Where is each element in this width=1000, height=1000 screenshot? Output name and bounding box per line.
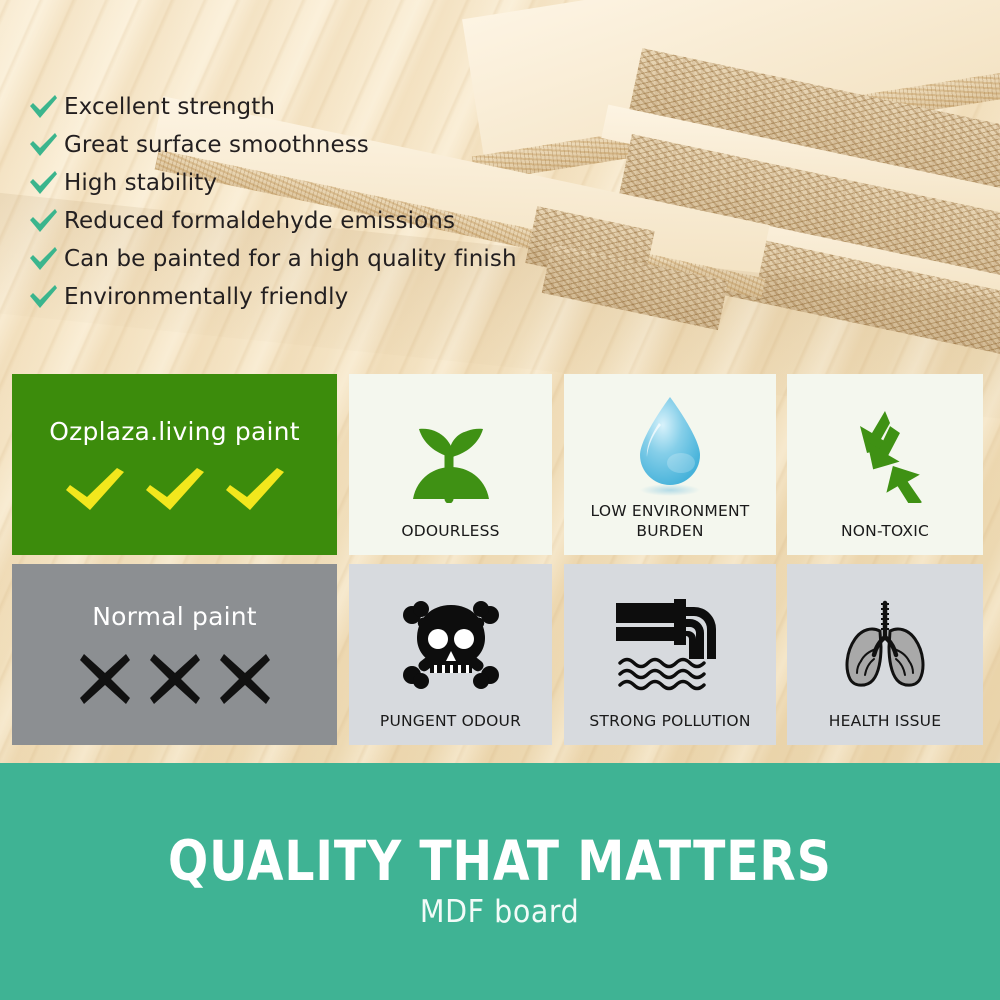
- cross-mark-row: [77, 651, 273, 707]
- drawback-label: HEALTH ISSUE: [823, 712, 947, 745]
- feature-label: Reduced formaldehyde emissions: [64, 208, 455, 234]
- cross-mark-icon: [77, 651, 133, 707]
- check-mark-icon: [144, 466, 206, 512]
- check-mark-icon: [224, 466, 286, 512]
- drawback-label: PUNGENT ODOUR: [374, 712, 527, 745]
- list-item: Environmentally friendly: [28, 278, 628, 316]
- normal-paint-panel: Normal paint: [12, 564, 337, 745]
- ozplaza-paint-panel: Ozplaza.living paint: [12, 374, 337, 555]
- infographic-page: Excellent strength Great surface smoothn…: [0, 0, 1000, 1000]
- check-icon: [28, 246, 58, 272]
- check-icon: [28, 208, 58, 234]
- check-icon: [28, 132, 58, 158]
- drawback-label: STRONG POLLUTION: [583, 712, 756, 745]
- benefit-cell-non-toxic: NON-TOXIC: [787, 374, 983, 555]
- list-item: Reduced formaldehyde emissions: [28, 202, 628, 240]
- skull-crossbones-icon: [349, 578, 552, 712]
- cross-mark-icon: [147, 651, 203, 707]
- drawback-cell-pungent-odour: PUNGENT ODOUR: [349, 564, 552, 745]
- footer-title: QUALITY THAT MATTERS: [168, 833, 832, 891]
- list-item: Can be painted for a high quality finish: [28, 240, 628, 278]
- footer-subtitle: MDF board: [420, 894, 579, 930]
- feature-label: Environmentally friendly: [64, 284, 348, 310]
- benefit-label: ODOURLESS: [395, 522, 505, 555]
- feature-label: Can be painted for a high quality finish: [64, 246, 517, 272]
- feature-label: Excellent strength: [64, 94, 275, 120]
- footer-banner: QUALITY THAT MATTERS MDF board: [0, 763, 1000, 1000]
- pipe-pollution-icon: [564, 578, 776, 712]
- check-icon: [28, 170, 58, 196]
- normal-paint-title: Normal paint: [92, 602, 257, 631]
- feature-label: High stability: [64, 170, 217, 196]
- comparison-grid: Ozplaza.living paint Normal paint: [12, 374, 983, 746]
- check-mark-icon: [64, 466, 126, 512]
- drawback-cell-strong-pollution: STRONG POLLUTION: [564, 564, 776, 745]
- water-droplet-icon: [564, 388, 776, 502]
- ozplaza-paint-title: Ozplaza.living paint: [49, 417, 299, 446]
- list-item: Great surface smoothness: [28, 126, 628, 164]
- benefit-cell-odourless: ODOURLESS: [349, 374, 552, 555]
- check-icon: [28, 94, 58, 120]
- lungs-icon: [787, 578, 983, 712]
- sprout-plant-icon: [349, 388, 552, 522]
- feature-label: Great surface smoothness: [64, 132, 369, 158]
- check-icon: [28, 284, 58, 310]
- drawback-cell-health-issue: HEALTH ISSUE: [787, 564, 983, 745]
- feature-list: Excellent strength Great surface smoothn…: [28, 88, 628, 316]
- recycle-icon: [787, 388, 983, 522]
- check-mark-row: [64, 466, 286, 512]
- list-item: High stability: [28, 164, 628, 202]
- benefit-cell-low-environment-burden: LOW ENVIRONMENT BURDEN: [564, 374, 776, 555]
- cross-mark-icon: [217, 651, 273, 707]
- benefit-label: NON-TOXIC: [835, 522, 935, 555]
- list-item: Excellent strength: [28, 88, 628, 126]
- benefit-label: LOW ENVIRONMENT BURDEN: [564, 502, 776, 555]
